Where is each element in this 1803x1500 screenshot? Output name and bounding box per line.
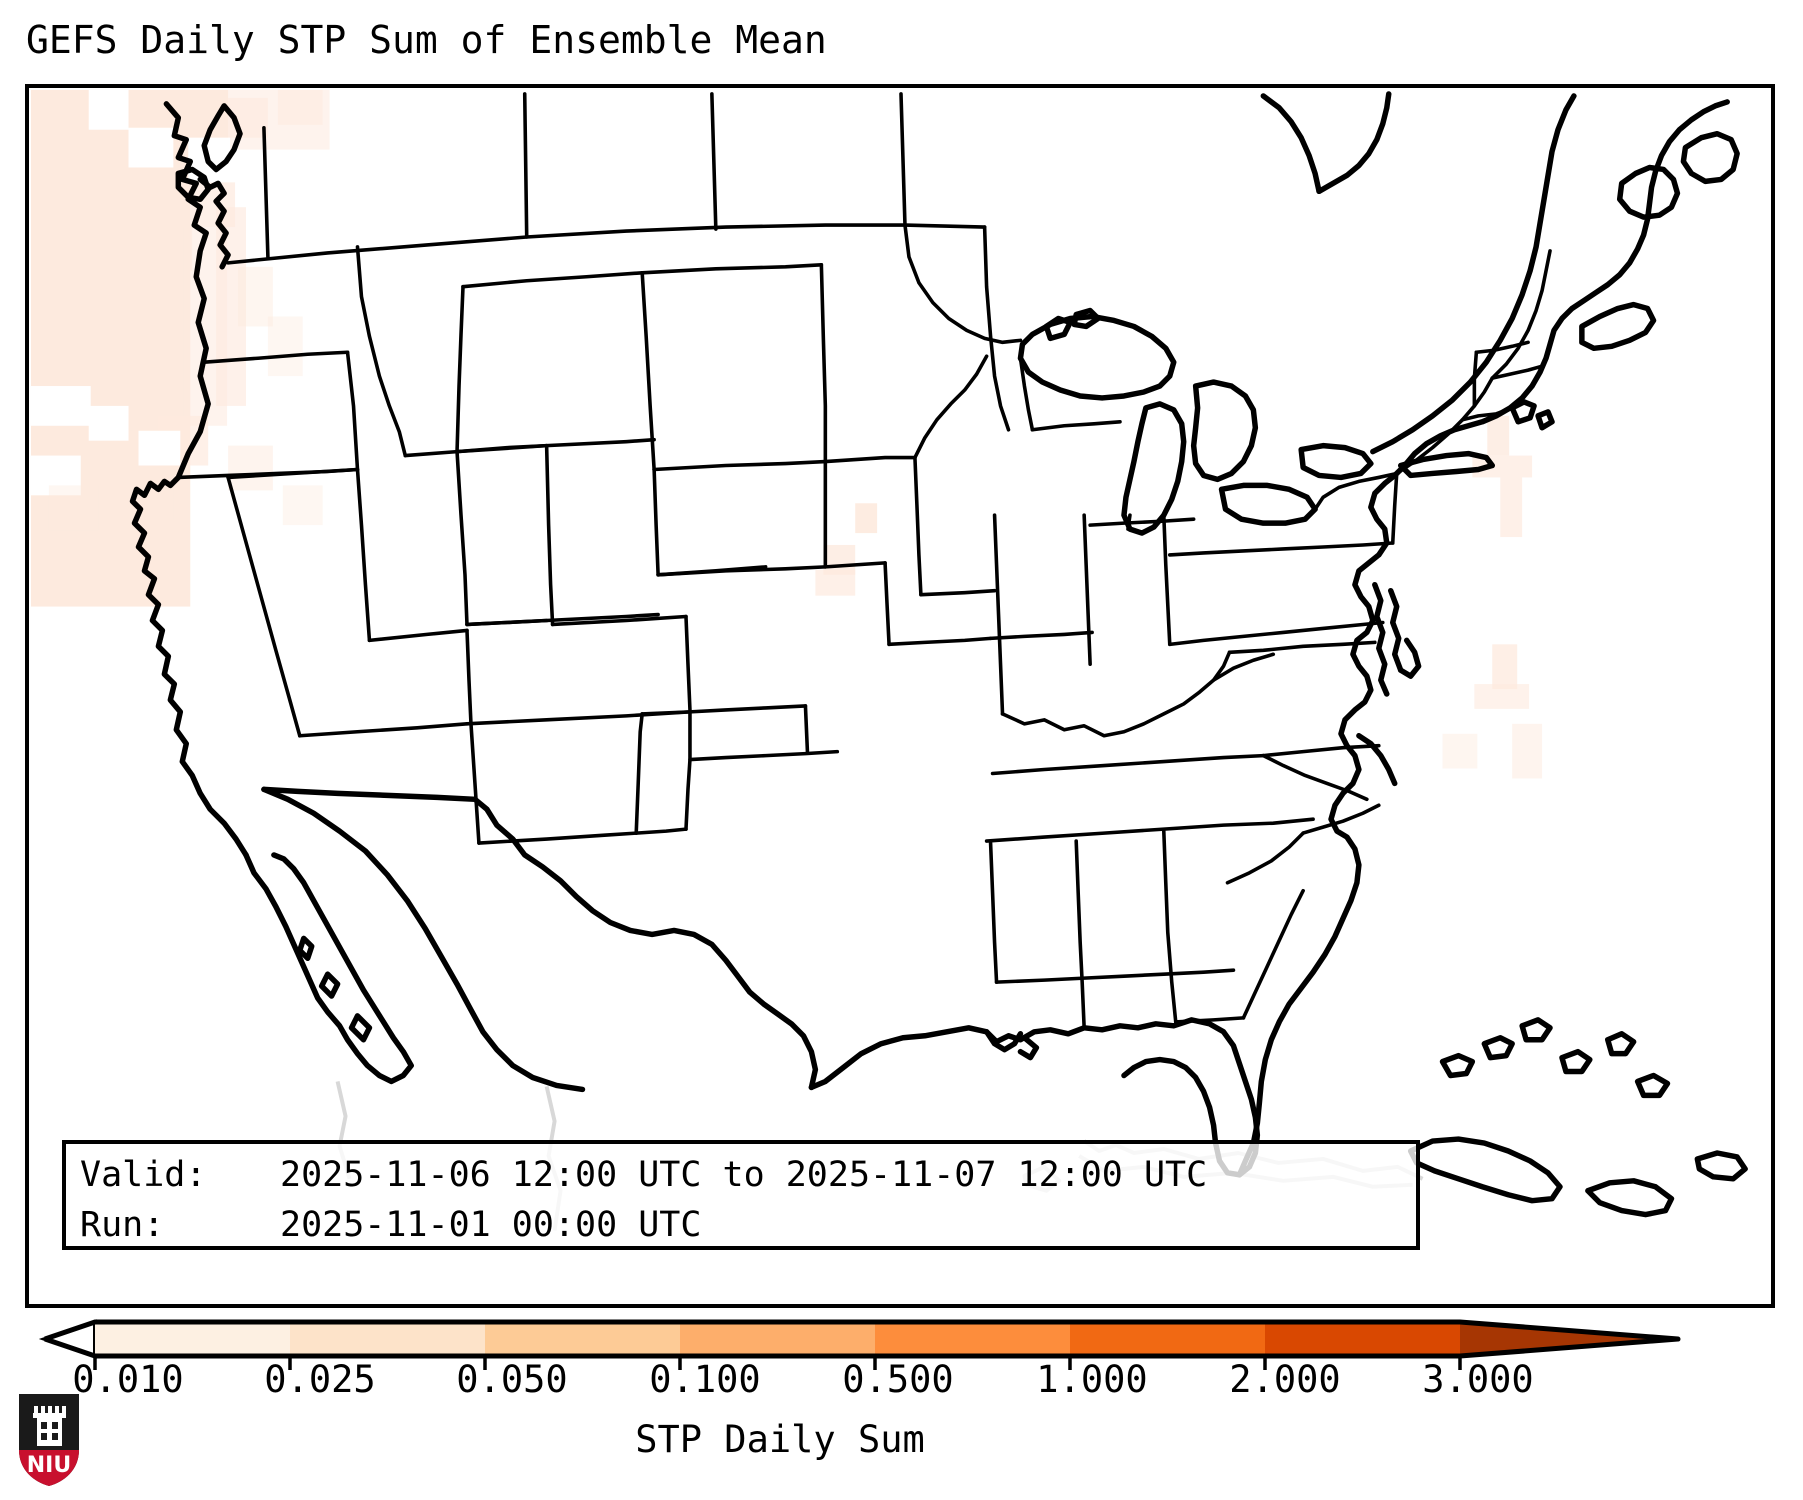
- state-border-layer: [178, 94, 1550, 1028]
- run-label: Run:: [80, 1200, 280, 1250]
- valid-row: Valid: 2025-11-06 12:00 UTC to 2025-11-0…: [80, 1150, 1402, 1200]
- stp-shading-layer: [31, 90, 1542, 778]
- colorbar-tick-label-7: 3.000: [1422, 1358, 1533, 1401]
- page-title: GEFS Daily STP Sum of Ensemble Mean: [26, 18, 827, 62]
- logo-text: NIU: [27, 1453, 71, 1478]
- colorbar-seg-6: [1070, 1322, 1265, 1356]
- map-canvas[interactable]: [29, 88, 1771, 1304]
- colorbar-panel[interactable]: 0.010 0.025 0.050 0.100 0.500 1.000 2.00…: [0, 1310, 1803, 1500]
- colorbar-seg-3: [485, 1322, 680, 1356]
- colorbar-seg-7: [1265, 1322, 1460, 1356]
- colorbar-seg-2: [290, 1322, 485, 1356]
- colorbar-tick-label-2: 0.050: [456, 1358, 567, 1401]
- colorbar-tick-label-5: 1.000: [1036, 1358, 1147, 1401]
- colorbar-tick-label-4: 0.500: [842, 1358, 953, 1401]
- colorbar-tick-label-0: 0.010: [72, 1358, 183, 1401]
- colorbar-tick-label-3: 0.100: [649, 1358, 760, 1401]
- run-row: Run: 2025-11-01 00:00 UTC: [80, 1200, 1402, 1250]
- run-value: 2025-11-01 00:00 UTC: [280, 1200, 1402, 1250]
- colorbar-seg-4: [680, 1322, 875, 1356]
- colorbar-seg-5: [875, 1322, 1070, 1356]
- colorbar-axis-label: STP Daily Sum: [635, 1418, 925, 1461]
- colorbar-tick-label-1: 0.025: [264, 1358, 375, 1401]
- niu-logo: NIU: [16, 1392, 82, 1488]
- info-box: Valid: 2025-11-06 12:00 UTC to 2025-11-0…: [62, 1140, 1420, 1250]
- valid-value: 2025-11-06 12:00 UTC to 2025-11-07 12:00…: [280, 1150, 1402, 1200]
- map-panel[interactable]: Valid: 2025-11-06 12:00 UTC to 2025-11-0…: [25, 84, 1775, 1308]
- colorbar-seg-1: [95, 1322, 290, 1356]
- colorbar-tick-label-6: 2.000: [1229, 1358, 1340, 1401]
- valid-label: Valid:: [80, 1150, 280, 1200]
- colorbar-over-arrow: [1460, 1322, 1678, 1356]
